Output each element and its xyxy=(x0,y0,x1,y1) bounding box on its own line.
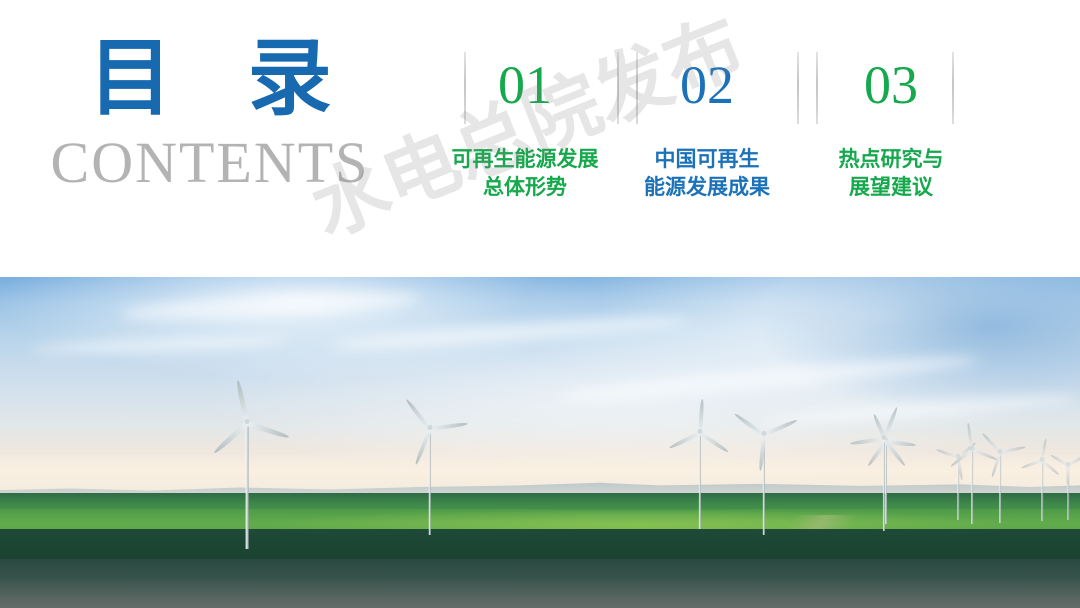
turbine-blade xyxy=(882,438,906,467)
wind-turbine xyxy=(854,435,914,531)
turbine-blade xyxy=(850,437,884,446)
section-list: 01 可再生能源发展 总体形势 02 中国可再生 能源发展成果 03 热点研究与… xyxy=(450,46,980,226)
section-number-01: 01 xyxy=(450,46,600,124)
wind-turbine xyxy=(734,431,794,535)
section-number-02: 02 xyxy=(632,46,782,124)
section-number-03: 03 xyxy=(816,46,966,124)
turbine-mast xyxy=(699,429,701,529)
turbine-hub xyxy=(698,429,703,434)
turbine-hub xyxy=(245,419,250,424)
section-label-01: 可再生能源发展 总体形势 xyxy=(450,146,600,201)
turbine-mast xyxy=(429,425,431,535)
turbine-blade xyxy=(669,431,701,449)
turbine-blade xyxy=(699,431,729,453)
section-label-03: 热点研究与 展望建议 xyxy=(816,146,966,201)
wind-farm-photo xyxy=(0,277,1080,608)
wind-turbine xyxy=(400,425,460,535)
section-item-02[interactable]: 02 中国可再生 能源发展成果 xyxy=(632,46,782,201)
section-item-01[interactable]: 01 可再生能源发展 总体形势 xyxy=(450,46,600,201)
turbine-hub xyxy=(428,425,433,430)
turbine-hub xyxy=(882,435,887,440)
title-block: 目 录 CONTENTS xyxy=(40,36,380,192)
section-label-02: 中国可再生 能源发展成果 xyxy=(632,146,782,201)
turbine-mast xyxy=(246,419,249,549)
turbine-mast xyxy=(999,449,1001,523)
turbine-blade xyxy=(213,422,249,455)
section-item-03[interactable]: 03 热点研究与 展望建议 xyxy=(816,46,966,201)
contents-slide: 目 录 CONTENTS 01 可再生能源发展 总体形势 02 中国可再生 能源… xyxy=(0,0,1080,608)
turbine-mast xyxy=(883,435,885,531)
header-panel: 目 录 CONTENTS 01 可再生能源发展 总体形势 02 中国可再生 能源… xyxy=(0,0,1080,277)
page-title-en: CONTENTS xyxy=(40,134,380,192)
turbine-hub xyxy=(998,449,1003,454)
turbine-hub xyxy=(762,431,767,436)
wind-turbine xyxy=(217,419,277,549)
wind-turbine xyxy=(1038,462,1080,520)
turbine-hub xyxy=(1066,462,1071,467)
turbine-blade xyxy=(1067,465,1070,485)
page-title-cn: 目 录 xyxy=(40,36,380,120)
wind-turbine xyxy=(670,429,730,529)
foreground-shadow xyxy=(0,577,1080,608)
